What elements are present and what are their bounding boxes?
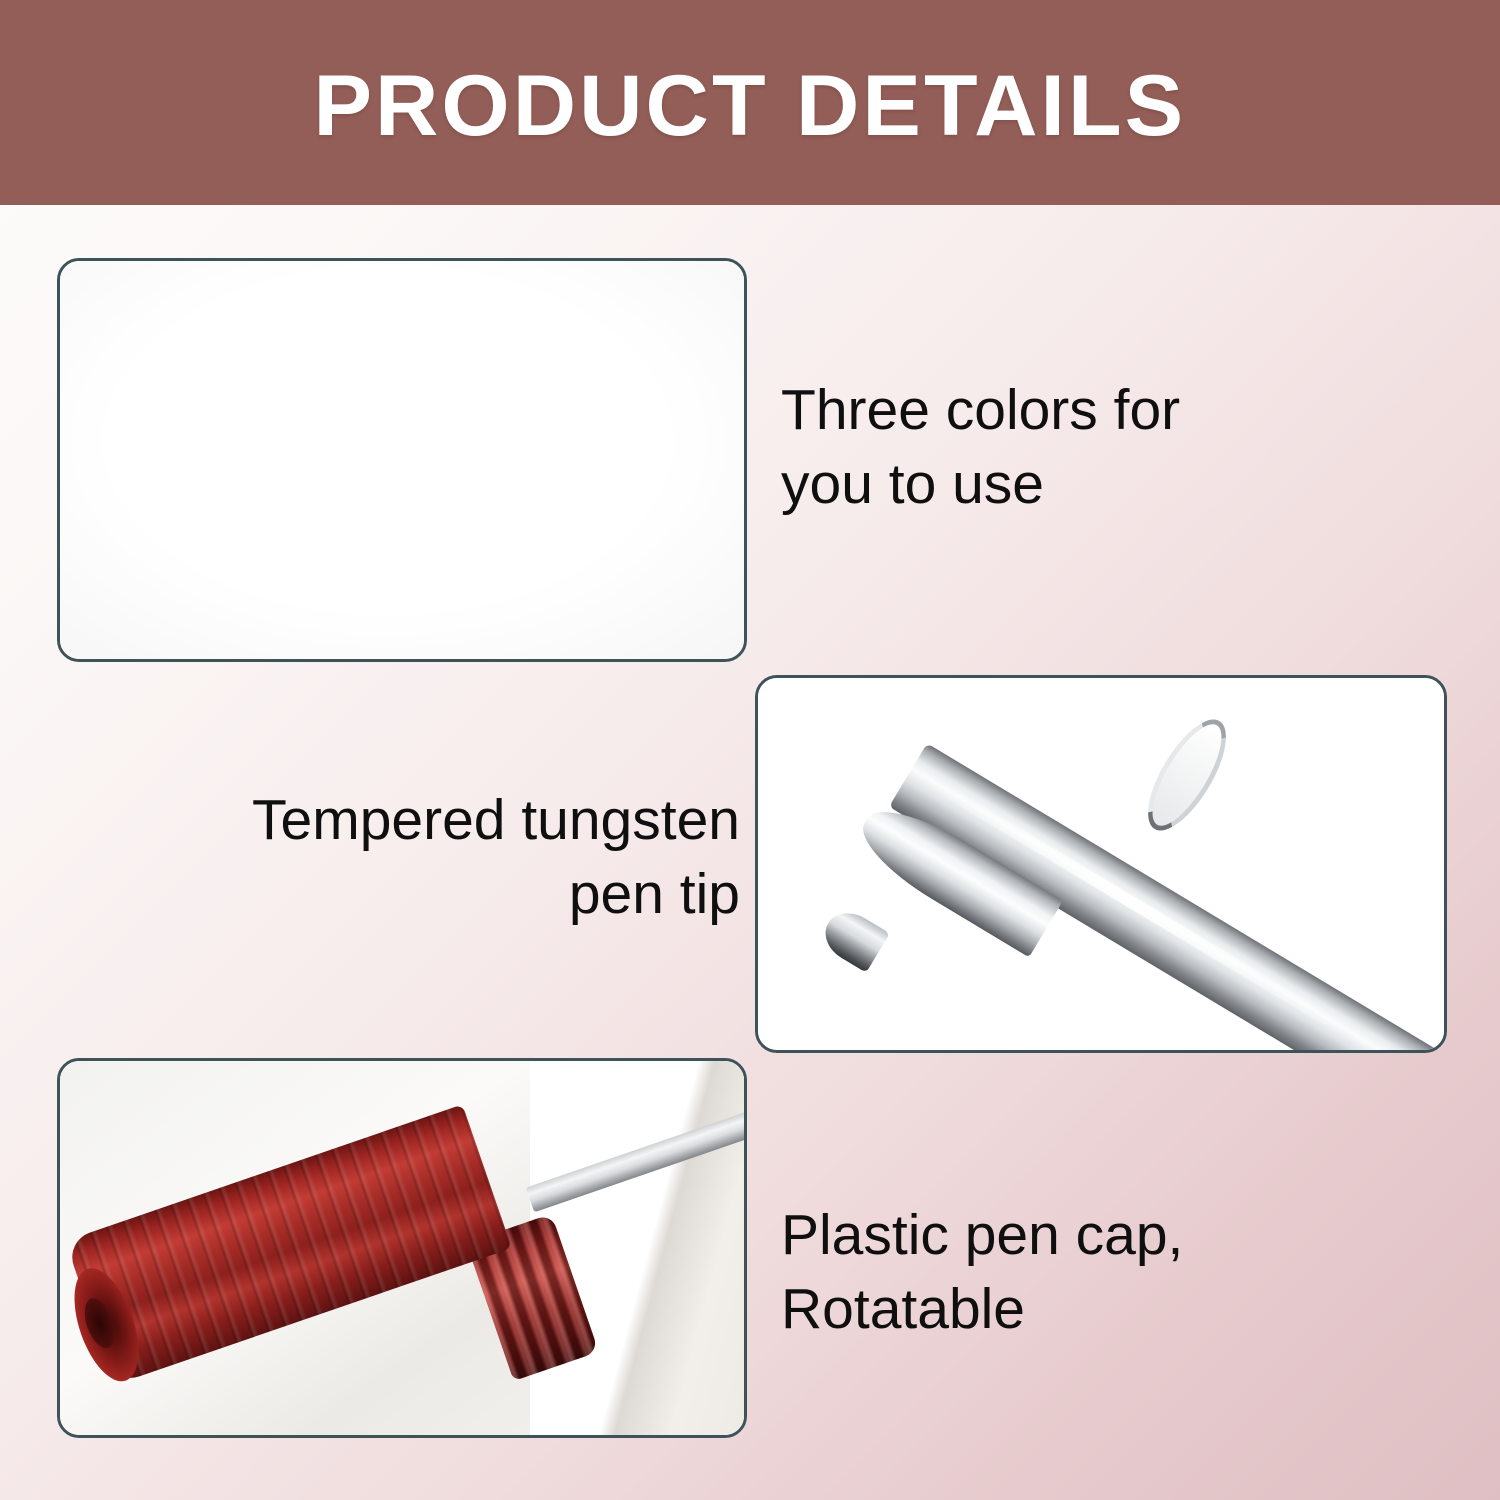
photo-panel-pen-tip <box>755 675 1447 1053</box>
pen-tip-point <box>816 903 889 972</box>
pen-tip-photo-stage <box>758 678 1444 1050</box>
caption-three-colors: Three colors for you to use <box>781 373 1341 521</box>
handles-photo-stage <box>60 261 744 659</box>
product-details-infographic: PRODUCT DETAILS Three colors for you to … <box>0 0 1500 1500</box>
photo-panel-pen-cap <box>57 1058 747 1438</box>
pen-tip-collar-ring <box>1133 708 1241 842</box>
pen-cap-photo-stage <box>60 1061 744 1435</box>
photo-panel-three-colors <box>57 258 747 662</box>
red-handle-grip <box>211 659 293 662</box>
caption-pen-tip: Tempered tungsten pen tip <box>150 783 740 931</box>
header-banner: PRODUCT DETAILS <box>0 0 1500 205</box>
page-title: PRODUCT DETAILS <box>314 63 1187 149</box>
blue-handle-grip <box>396 659 478 662</box>
caption-pen-cap: Plastic pen cap, Rotatable <box>781 1198 1381 1346</box>
black-handle-grip <box>581 659 663 662</box>
